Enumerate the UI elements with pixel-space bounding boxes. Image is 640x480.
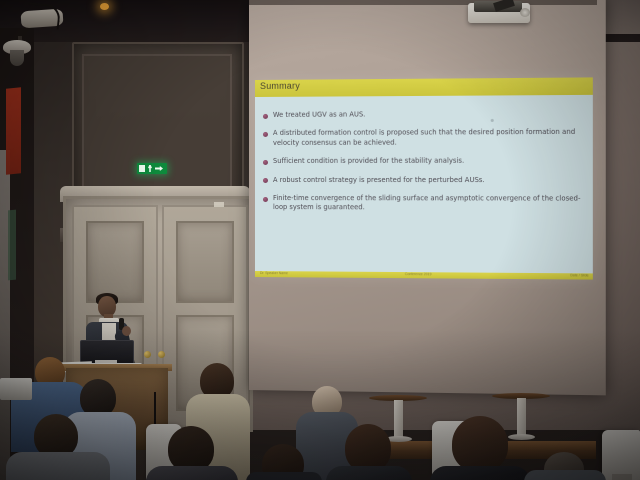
running-person-icon: [148, 165, 152, 172]
door-knob[interactable]: [158, 351, 165, 358]
screenshot-canvas: Summary We treated UGV as an AUS. A dist…: [0, 0, 640, 480]
audience-laptop: [0, 378, 32, 400]
slide-footer-right: Date / Slide: [570, 273, 588, 277]
audience-body: [524, 470, 606, 480]
lamp-bulb: [10, 50, 24, 66]
table-stem: [394, 400, 403, 438]
projection-screen-roller: [249, 0, 597, 5]
projected-slide: Summary We treated UGV as an AUS. A dist…: [255, 77, 593, 279]
wall-poster-green: [8, 210, 16, 281]
table-base: [508, 434, 535, 440]
exit-door-icon: [139, 165, 145, 172]
slide-bullet-text: We treated UGV as an AUS.: [273, 110, 365, 120]
bullet-dot-icon: [263, 160, 268, 165]
wall-poster-white: [0, 150, 10, 480]
chair-leg: [612, 474, 632, 480]
ceiling-spotlight: [100, 3, 109, 10]
slide-bullet-item: We treated UGV as an AUS.: [263, 109, 584, 120]
slide-bullet-item: Sufficient condition is provided for the…: [263, 157, 584, 167]
mouse-cursor-dot: [491, 119, 494, 122]
table-stem: [517, 398, 526, 436]
audience-body: [246, 472, 322, 480]
slide-title-bar: Summary: [255, 77, 593, 97]
audience-body: [430, 466, 530, 480]
door-panel: [86, 221, 144, 303]
door-plate: [214, 202, 224, 207]
door-knob[interactable]: [144, 351, 151, 358]
bullet-dot-icon: [263, 132, 268, 137]
slide-bullet-text: A distributed formation control is propo…: [273, 128, 584, 148]
audience-head: [345, 424, 391, 472]
door-panel: [176, 221, 234, 303]
bullet-dot-icon: [263, 197, 268, 202]
slide-bullet-item: Finite-time convergence of the sliding s…: [263, 194, 584, 214]
slide-footer-center: Conference 2019: [405, 272, 432, 276]
slide-bullet-text: A robust control strategy is presented f…: [273, 176, 485, 186]
bullet-dot-icon: [263, 113, 268, 118]
slide-bullet-item: A distributed formation control is propo…: [263, 128, 584, 148]
slide-footer-left: Dr. Speaker Name: [260, 271, 288, 275]
arrow-right-icon: [155, 166, 163, 171]
bullet-dot-icon: [263, 178, 268, 183]
audience-head: [452, 416, 508, 472]
slide-bullet-text: Sufficient condition is provided for the…: [273, 157, 464, 167]
emergency-exit-sign: [137, 163, 167, 174]
projector-lens-icon: [520, 8, 530, 17]
presenter-hand: [122, 326, 131, 336]
white-chair: [602, 430, 640, 480]
wall-poster-red: [6, 87, 21, 175]
slide-bullet-list: We treated UGV as an AUS. A distributed …: [263, 109, 584, 223]
audience-body: [326, 466, 412, 480]
slide-bullet-text: Finite-time convergence of the sliding s…: [273, 194, 584, 214]
slide-bullet-item: A robust control strategy is presented f…: [263, 176, 584, 186]
slide-title: Summary: [260, 81, 300, 91]
audience-body: [6, 452, 110, 480]
audience-body: [146, 466, 238, 480]
